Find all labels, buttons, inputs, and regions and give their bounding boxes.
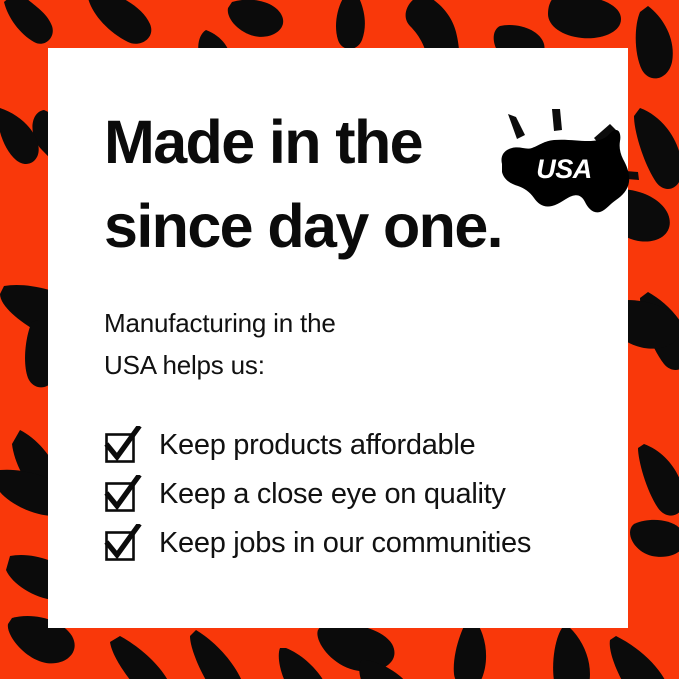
headline-line-1: Made in the xyxy=(104,100,422,184)
list-item: Keep jobs in our communities xyxy=(104,518,604,567)
usa-map-badge-icon: USA xyxy=(486,108,646,224)
made-in-usa-poster: Made in the USA since day one. Manufactu… xyxy=(0,0,679,679)
usa-badge-label: USA xyxy=(536,154,592,184)
headline-block: Made in the USA since day one. xyxy=(104,100,624,268)
list-item-label: Keep products affordable xyxy=(159,428,475,462)
checkbox-checked-icon xyxy=(104,426,142,464)
body-copy: Manufacturing in the USA helps us: xyxy=(104,302,584,386)
list-item: Keep products affordable xyxy=(104,420,604,469)
list-item-label: Keep jobs in our communities xyxy=(159,526,531,560)
list-item-label: Keep a close eye on quality xyxy=(159,477,506,511)
content-card: Made in the USA since day one. Manufactu… xyxy=(48,48,628,628)
headline-line-1-row: Made in the USA xyxy=(104,100,624,184)
body-copy-line-2: USA helps us: xyxy=(104,344,584,386)
list-item: Keep a close eye on quality xyxy=(104,469,604,518)
benefits-check-list: Keep products affordable Keep a close ey… xyxy=(104,420,604,567)
checkbox-checked-icon xyxy=(104,475,142,513)
checkbox-checked-icon xyxy=(104,524,142,562)
body-copy-line-1: Manufacturing in the xyxy=(104,302,584,344)
